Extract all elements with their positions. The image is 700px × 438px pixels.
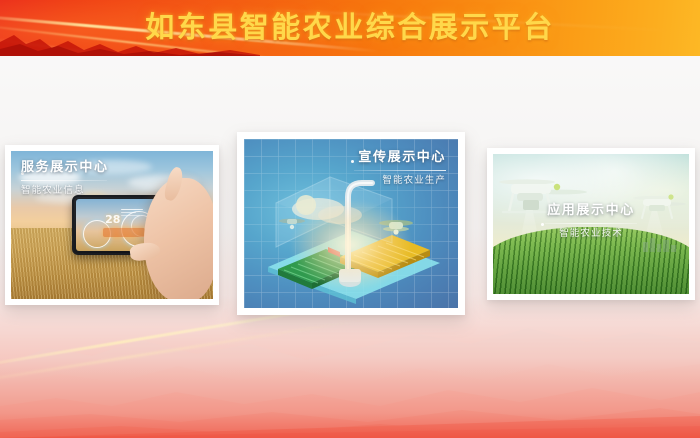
caption-divider bbox=[545, 223, 637, 224]
panel-promotion-title: 宣传展示中心 bbox=[354, 149, 446, 166]
panel-promotion-subtitle: 智能农业生产 bbox=[354, 174, 446, 187]
panel-application-caption: 应用展示中心 智能农业技术 bbox=[493, 202, 689, 240]
hand bbox=[144, 178, 213, 299]
panel-application-image: 应用展示中心 智能农业技术 bbox=[493, 154, 689, 294]
panel-promotion-display-center[interactable]: 宣传展示中心 智能农业生产 bbox=[237, 132, 465, 315]
panel-promotion-image: 宣传展示中心 智能农业生产 bbox=[244, 139, 458, 308]
panel-application-display-center[interactable]: 应用展示中心 智能农业技术 bbox=[487, 148, 695, 300]
panel-application-title: 应用展示中心 bbox=[493, 202, 689, 219]
panel-application-subtitle: 智能农业技术 bbox=[493, 227, 689, 240]
temperature-readout: 28 bbox=[105, 213, 120, 226]
caption-divider bbox=[354, 170, 446, 171]
panel-service-display-center[interactable]: 28 服务展示中心 智能农业信息 bbox=[5, 145, 219, 305]
header-banner: 如东县智能农业综合展示平台 bbox=[0, 0, 700, 56]
sun-glow bbox=[291, 200, 411, 290]
panel-service-title: 服务展示中心 bbox=[21, 159, 109, 176]
panel-service-image: 28 服务展示中心 智能农业信息 bbox=[11, 151, 213, 299]
panel-service-subtitle: 智能农业信息 bbox=[21, 184, 109, 197]
panel-promotion-caption: 宣传展示中心 智能农业生产 bbox=[354, 149, 446, 187]
app-root: 如东县智能农业综合展示平台 bbox=[0, 0, 700, 438]
page-title: 如东县智能农业综合展示平台 bbox=[0, 7, 700, 47]
panel-service-caption: 服务展示中心 智能农业信息 bbox=[21, 159, 109, 197]
caption-divider bbox=[21, 180, 107, 181]
hud-readout-panel bbox=[103, 228, 145, 237]
hud-bar bbox=[121, 209, 143, 211]
